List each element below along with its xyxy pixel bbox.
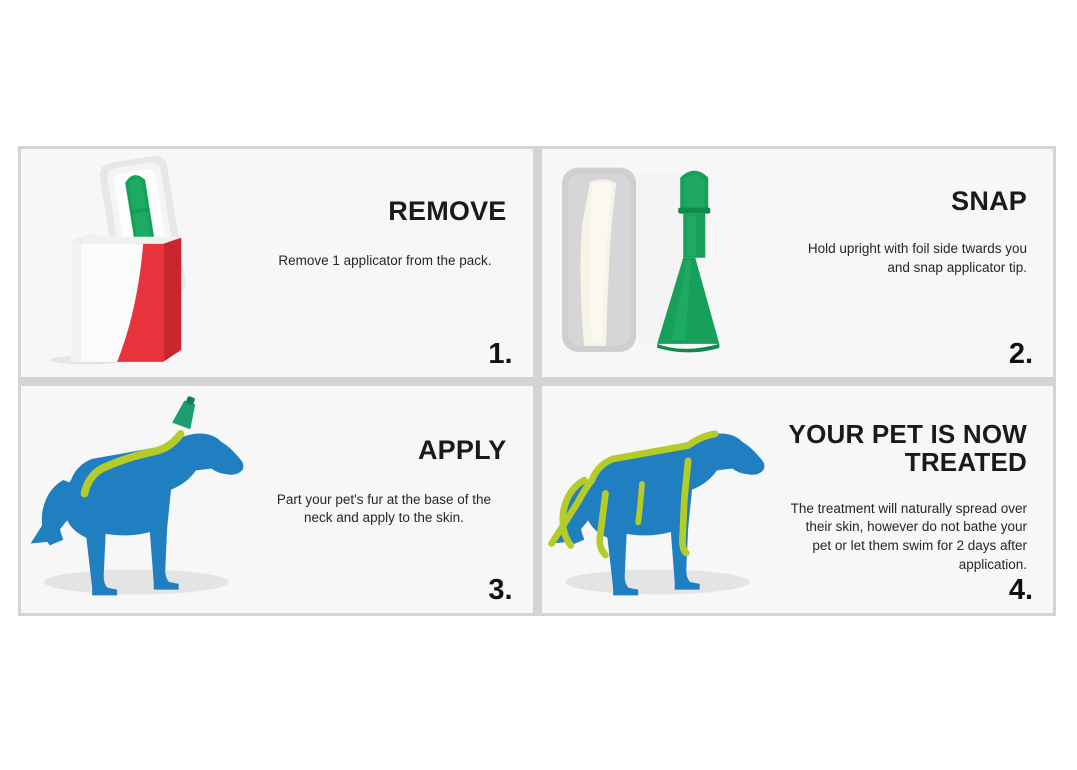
step-panel-remove: REMOVE Remove 1 applicator from the pack… — [21, 149, 533, 377]
step-number: 2. — [1009, 340, 1033, 369]
step-heading: REMOVE — [265, 197, 506, 226]
dog-with-applicator-at-neck-illustration — [21, 386, 261, 614]
step-body: Part your pet's fur at the base of the n… — [265, 491, 506, 528]
step-body: The treatment will naturally spread over… — [786, 500, 1027, 575]
steps-grid: REMOVE Remove 1 applicator from the pack… — [18, 146, 1056, 616]
step-number: 3. — [488, 576, 512, 605]
step-panel-treated: YOUR PET IS NOW TREATED The treatment wi… — [542, 386, 1054, 614]
step-panel-snap: SNAP Hold upright with foil side twards … — [542, 149, 1054, 377]
step-heading: YOUR PET IS NOW TREATED — [786, 420, 1027, 476]
dog-treated-svg — [542, 386, 782, 614]
blister-illustration-svg — [542, 149, 782, 377]
pack-red-side — [163, 238, 181, 362]
applicator-small — [172, 393, 201, 428]
pack-carton — [71, 237, 181, 362]
step-number: 1. — [488, 340, 512, 369]
blister-and-applicator-illustration — [542, 149, 782, 377]
applicator-base — [657, 344, 719, 353]
step-body: Remove 1 applicator from the pack. — [265, 252, 506, 271]
step-body: Hold upright with foil side twards you a… — [786, 240, 1027, 277]
blister-pack — [562, 168, 636, 352]
pack-illustration-svg — [21, 149, 261, 377]
step-heading: APPLY — [265, 436, 506, 465]
pack-with-applicator-illustration — [21, 149, 261, 377]
step-number: 4. — [1009, 576, 1033, 605]
applicator-snap-collar — [678, 208, 710, 214]
dog-with-treatment-spread-illustration — [542, 386, 782, 614]
dog-apply-svg — [21, 386, 261, 614]
step-heading: SNAP — [786, 187, 1027, 216]
pack-top-face — [71, 237, 181, 244]
treatment-spread-shoulder — [638, 483, 642, 521]
step-panel-apply: APPLY Part your pet's fur at the base of… — [21, 386, 533, 614]
dog-shadow — [44, 569, 229, 594]
dog-shadow — [565, 569, 750, 594]
